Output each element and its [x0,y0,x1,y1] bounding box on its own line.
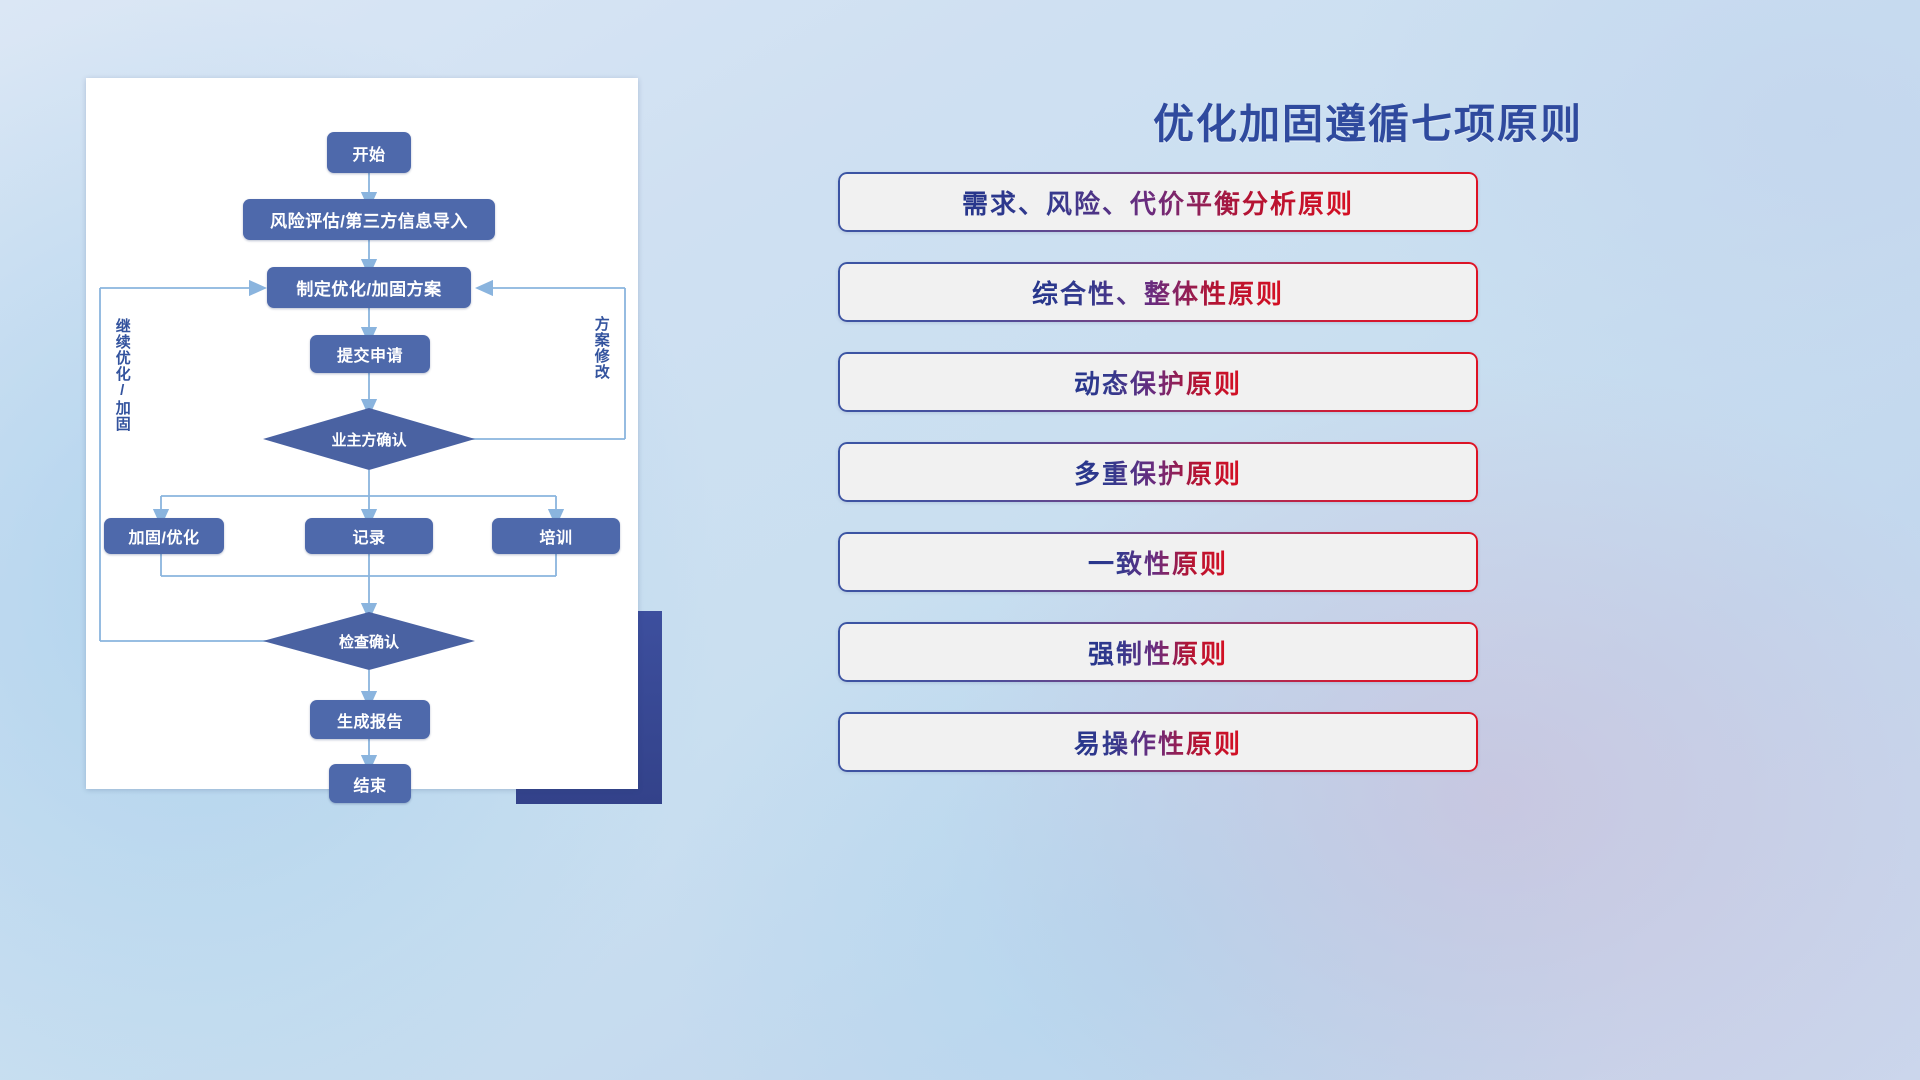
edge-label-left-loop: 继续优化/加固 [114,318,130,448]
flow-node-record[interactable]: 记录 [305,518,433,554]
principle-label: 多重保护原则 [1074,454,1242,491]
flow-node-owner-confirm[interactable]: 业主方确认 [263,408,475,470]
flow-node-end[interactable]: 结束 [329,764,411,803]
flow-node-make-plan-label: 制定优化/加固方案 [296,275,441,300]
edge-label-right-loop: 方案修改 [593,316,609,408]
principle-item[interactable]: 多重保护原则 [838,442,1478,502]
page-title: 优化加固遵循七项原则 [948,90,1788,150]
principles-pane: 优化加固遵循七项原则 需求、风险、代价平衡分析原则 综合性、整体性原则 动态保护… [836,0,1896,1080]
flow-node-end-label: 结束 [353,772,386,796]
flow-node-submit-application-label: 提交申请 [337,342,403,366]
flow-node-risk-assessment-label: 风险评估/第三方信息导入 [270,207,468,232]
principle-label: 一致性原则 [1088,544,1228,581]
flow-node-training[interactable]: 培训 [492,518,620,554]
principle-item[interactable]: 易操作性原则 [838,712,1478,772]
flow-node-risk-assessment[interactable]: 风险评估/第三方信息导入 [243,199,495,240]
principle-label: 强制性原则 [1088,634,1228,671]
principle-label: 易操作性原则 [1074,724,1242,761]
principle-item[interactable]: 动态保护原则 [838,352,1478,412]
flow-node-record-label: 记录 [352,524,385,548]
flow-node-make-plan[interactable]: 制定优化/加固方案 [267,267,471,308]
principle-item[interactable]: 一致性原则 [838,532,1478,592]
flow-node-start[interactable]: 开始 [327,132,411,173]
flow-node-start-label: 开始 [352,141,385,165]
principle-item[interactable]: 强制性原则 [838,622,1478,682]
flow-node-inspection-confirm[interactable]: 检查确认 [263,612,475,670]
flow-node-generate-report-label: 生成报告 [337,708,403,732]
principle-item[interactable]: 需求、风险、代价平衡分析原则 [838,172,1478,232]
flow-node-submit-application[interactable]: 提交申请 [310,335,430,373]
flow-node-inspection-confirm-label: 检查确认 [339,631,399,652]
principle-label: 动态保护原则 [1074,364,1242,401]
flow-node-reinforce-optimize[interactable]: 加固/优化 [104,518,224,554]
flow-node-training-label: 培训 [539,524,572,548]
flowchart-card: 开始 风险评估/第三方信息导入 制定优化/加固方案 提交申请 业主方确认 加固/… [86,78,638,789]
principle-label: 需求、风险、代价平衡分析原则 [962,184,1354,221]
flow-node-generate-report[interactable]: 生成报告 [310,700,430,739]
principle-label: 综合性、整体性原则 [1032,274,1284,311]
principle-item[interactable]: 综合性、整体性原则 [838,262,1478,322]
flow-node-reinforce-optimize-label: 加固/优化 [129,524,200,548]
flow-node-owner-confirm-label: 业主方确认 [331,429,406,450]
principles-list: 需求、风险、代价平衡分析原则 综合性、整体性原则 动态保护原则 多重保护原则 一… [836,172,1896,802]
